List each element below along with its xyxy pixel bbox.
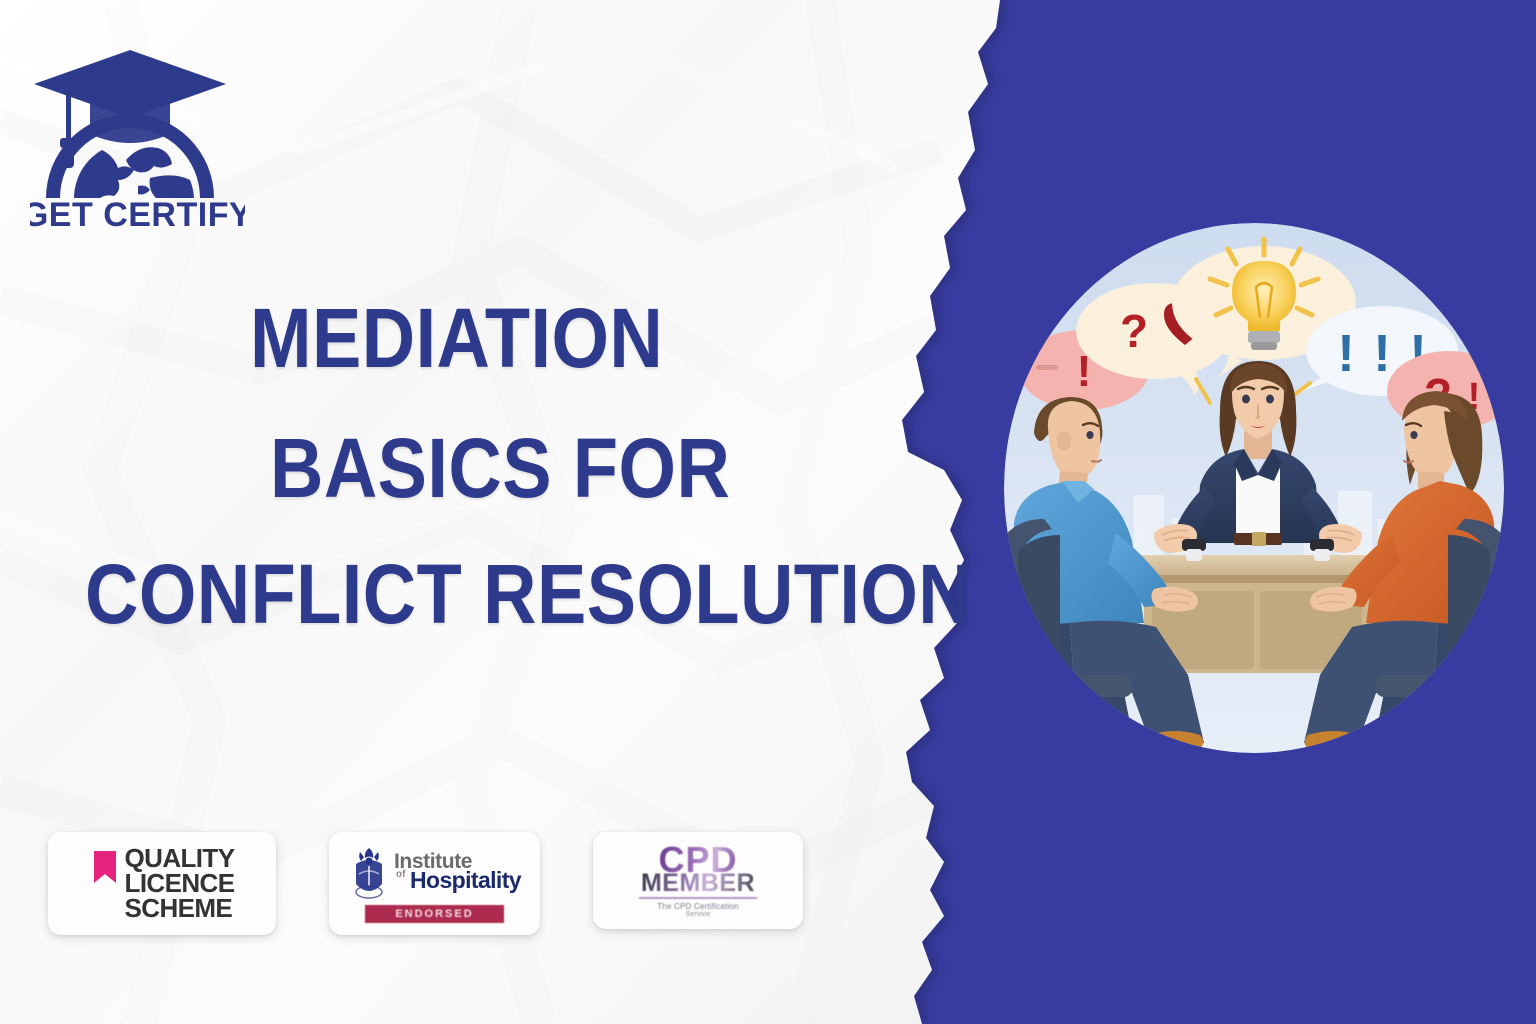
cpd-subtext-2: Service — [686, 911, 711, 918]
badge-quality-licence-scheme[interactable]: QUALITY LICENCE SCHEME — [48, 832, 276, 935]
mediation-session-illustration: ! ? — [1004, 223, 1504, 753]
ioh-word-hospitality: Hospitality — [410, 870, 521, 892]
svg-text:!: ! — [1373, 325, 1390, 383]
banner-canvas: GET CERTIFY MEDIATION BASICS FOR CONFLIC… — [0, 0, 1536, 1024]
cpd-subtext-1: The CPD Certification — [657, 902, 739, 911]
qls-line-3: SCHEME — [125, 896, 235, 921]
title-line-1: MEDIATION — [250, 296, 804, 380]
cpd-divider — [639, 897, 757, 899]
bookmark-icon — [94, 851, 116, 883]
cpd-member-label: MEMBER — [641, 871, 755, 896]
svg-text:!: ! — [1337, 325, 1354, 383]
svg-text:?: ? — [1120, 305, 1148, 357]
badge-cpd-member[interactable]: CPD MEMBER The CPD Certification Service — [593, 832, 803, 929]
heraldic-crest-icon — [348, 844, 390, 900]
get-certify-logo[interactable]: GET CERTIFY — [30, 38, 245, 233]
page-title: MEDIATION BASICS FOR CONFLICT RESOLUTION — [80, 296, 880, 636]
ioh-endorsed-band: ENDORSED — [365, 905, 503, 923]
badge-institute-of-hospitality[interactable]: Institute of Hospitality ENDORSED — [329, 832, 540, 935]
logo-wordmark: GET CERTIFY — [30, 196, 245, 233]
title-line-2: BASICS FOR — [270, 426, 807, 510]
title-line-3: CONFLICT RESOLUTION — [85, 552, 785, 636]
accreditation-badges: QUALITY LICENCE SCHEME — [48, 832, 803, 935]
